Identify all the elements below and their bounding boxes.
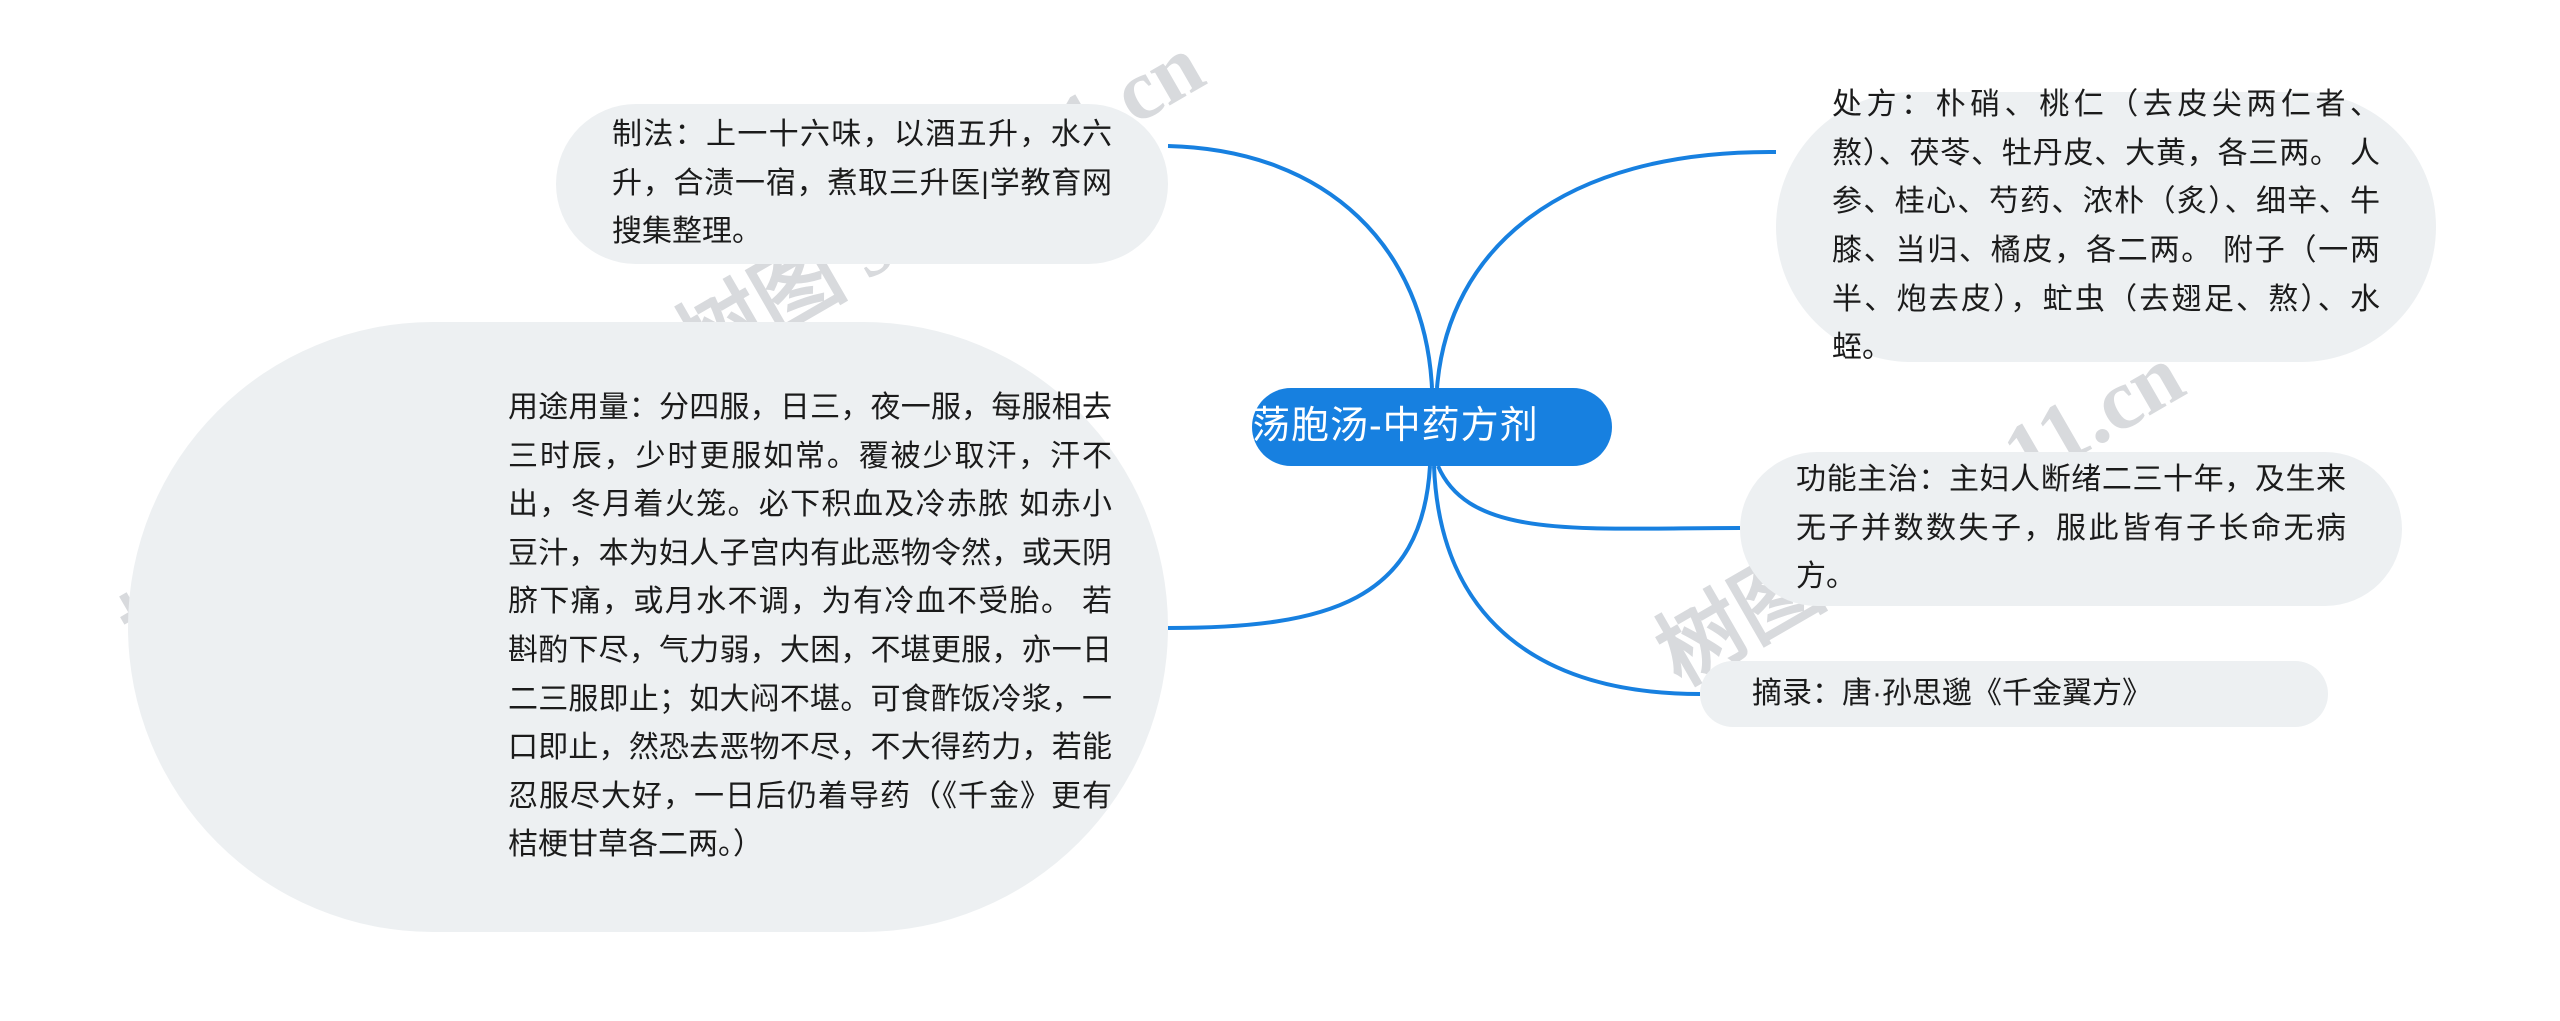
node-indications[interactable]: 功能主治：主妇人断绪二三十年，及生来无子并数数失子，服此皆有子长命无病方。 <box>1740 452 2402 606</box>
node-source-citation[interactable]: 摘录：唐·孙思邈《千金翼方》 <box>1700 661 2328 727</box>
node-source-citation-text: 摘录：唐·孙思邈《千金翼方》 <box>1752 670 2276 719</box>
connector-to-zhifa <box>1168 146 1432 388</box>
node-prescription-text: 处方：朴硝、桃仁（去皮尖两仁者、熬）、茯苓、牡丹皮、大黄，各三两。 人参、桂心、… <box>1832 81 2380 373</box>
node-prescription[interactable]: 处方：朴硝、桃仁（去皮尖两仁者、熬）、茯苓、牡丹皮、大黄，各三两。 人参、桂心、… <box>1776 92 2436 362</box>
node-indications-text: 功能主治：主妇人断绪二三十年，及生来无子并数数失子，服此皆有子长命无病方。 <box>1796 456 2346 602</box>
node-usage-dosage-text: 用途用量：分四服，日三，夜一服，每服相去三时辰，少时更服如常。覆被少取汗，汗不出… <box>508 384 1112 870</box>
connector-to-yongtu <box>1168 466 1430 628</box>
mindmap-canvas: 树图 shutu11.cn 树图 shutu11.cn 树图 shutu11.c… <box>0 0 2560 1021</box>
node-root-title-text: 荡胞汤-中药方剂 <box>1252 396 1612 458</box>
node-usage-dosage[interactable]: 用途用量：分四服，日三，夜一服，每服相去三时辰，少时更服如常。覆被少取汗，汗不出… <box>128 322 1168 932</box>
connector-to-chufang <box>1437 152 1776 388</box>
node-preparation-method[interactable]: 制法：上一十六味，以酒五升，水六升，合渍一宿，煮取三升医|学教育网搜集整理。 <box>556 104 1168 264</box>
connector-to-gongneng <box>1438 466 1740 529</box>
connector-to-zhailu <box>1434 466 1700 694</box>
node-root-title[interactable]: 荡胞汤-中药方剂 <box>1252 388 1612 466</box>
node-preparation-method-text: 制法：上一十六味，以酒五升，水六升，合渍一宿，煮取三升医|学教育网搜集整理。 <box>612 111 1112 257</box>
